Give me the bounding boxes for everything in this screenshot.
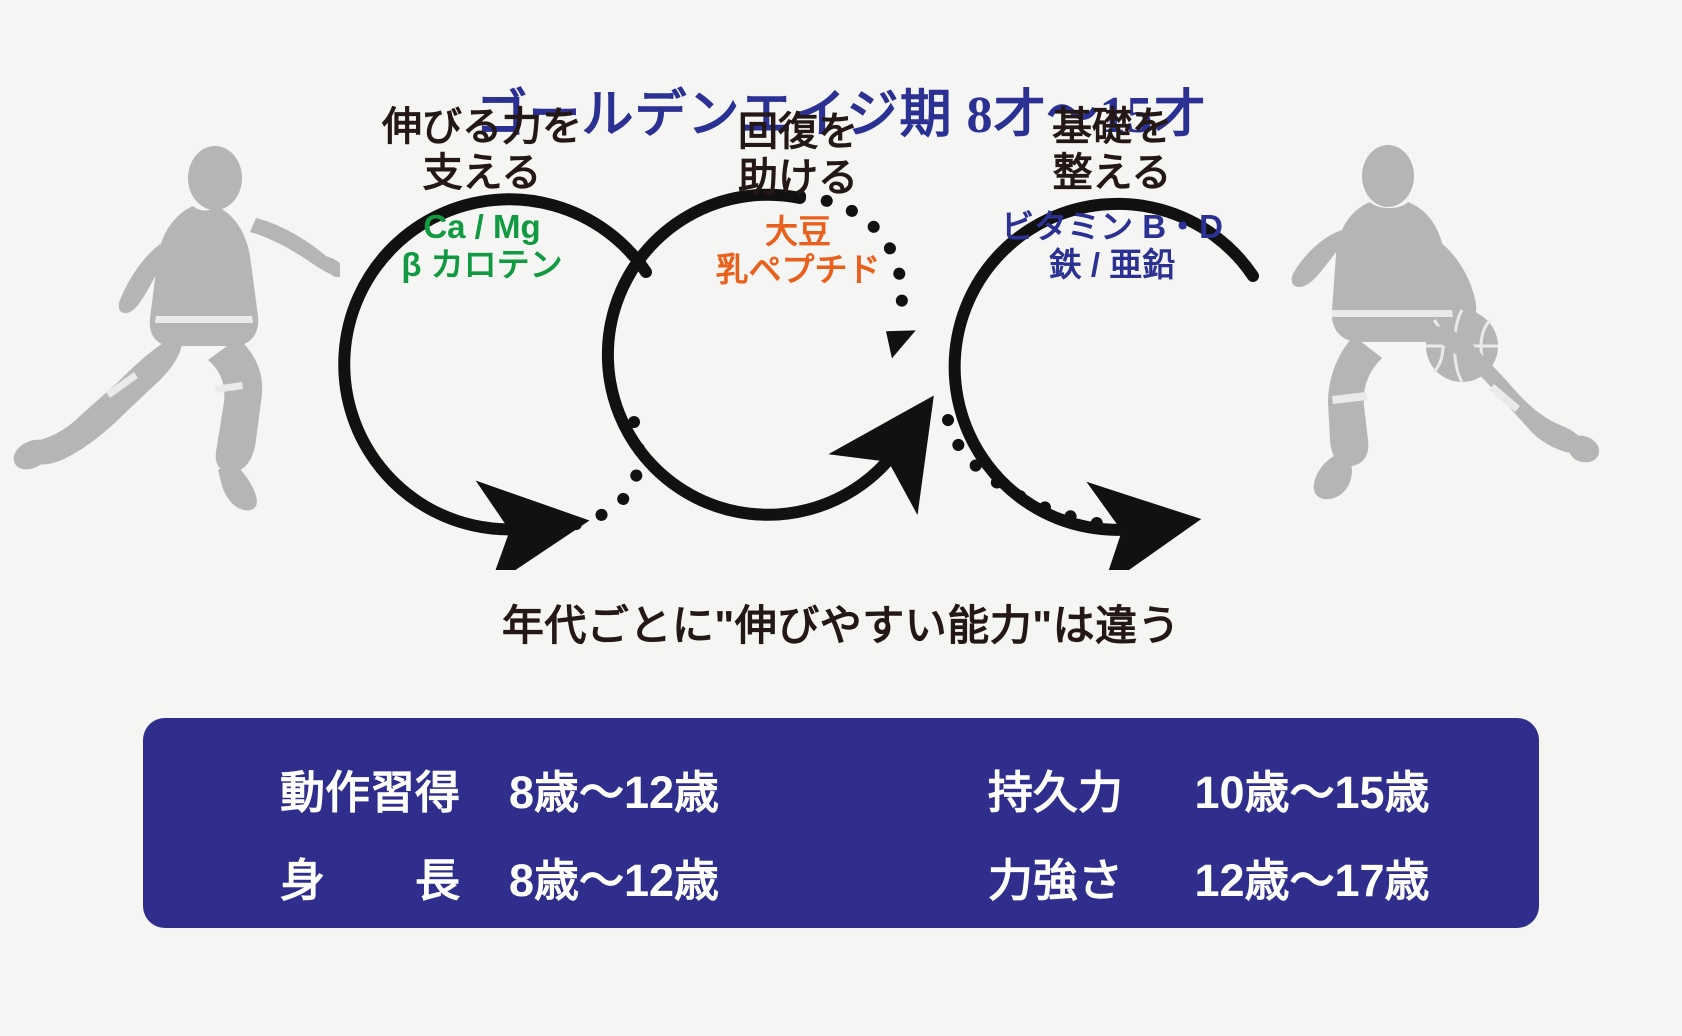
- ability-range: 8歳〜12歳: [509, 844, 719, 909]
- ability-label: 動作習得: [265, 756, 475, 821]
- subtitle: 年代ごとに"伸びやすい能力"は違う: [0, 592, 1682, 653]
- ability-cell-height: 身 長 8歳〜12歳: [143, 844, 841, 909]
- ability-range: 12歳〜17歳: [1194, 844, 1429, 909]
- ability-label: 持久力: [950, 756, 1160, 821]
- ability-row: 動作習得 8歳〜12歳 持久力 10歳〜15歳: [143, 744, 1539, 832]
- circle-1-label: 伸びる力を 支える Ca / Mg β カロテン: [332, 105, 632, 283]
- circle-3-heading: 基礎を 整える: [962, 105, 1262, 196]
- circle-1-heading: 伸びる力を 支える: [332, 105, 632, 196]
- circle-1-nutrients: Ca / Mg β カロテン: [332, 208, 632, 283]
- ability-row: 身 長 8歳〜12歳 力強さ 12歳〜17歳: [143, 832, 1539, 920]
- ability-age-box: 動作習得 8歳〜12歳 持久力 10歳〜15歳 身 長 8歳〜12歳 力強さ 1…: [143, 718, 1539, 928]
- circle-2-nutrients: 大豆 乳ペプチド: [648, 213, 948, 288]
- ability-label: 力強さ: [950, 844, 1160, 909]
- ability-cell-motor-skill: 動作習得 8歳〜12歳: [143, 756, 841, 821]
- circle-2-arc-hidden: [600, 310, 920, 570]
- ability-label: 身 長: [265, 844, 475, 909]
- ability-range: 10歳〜15歳: [1194, 756, 1429, 821]
- circle-3-label: 基礎を 整える ビタミン B・D 鉄 / 亜鉛: [962, 105, 1262, 283]
- circle-2-label: 回復を 助ける 大豆 乳ペプチド: [648, 110, 948, 288]
- circle-2-dot-arrowhead: [879, 322, 916, 363]
- ability-range: 8歳〜12歳: [509, 756, 719, 821]
- circle-1-dotted-arc: [540, 422, 639, 530]
- circle-3-nutrients: ビタミン B・D 鉄 / 亜鉛: [962, 208, 1262, 283]
- ability-cell-endurance: 持久力 10歳〜15歳: [841, 756, 1539, 821]
- infographic-canvas: ゴールデンエイジ期 8才〜15才: [0, 0, 1682, 1036]
- extra-dotted: [1255, 510, 1294, 570]
- circle-2-heading: 回復を 助ける: [648, 110, 948, 201]
- ability-cell-strength: 力強さ 12歳〜17歳: [841, 844, 1539, 909]
